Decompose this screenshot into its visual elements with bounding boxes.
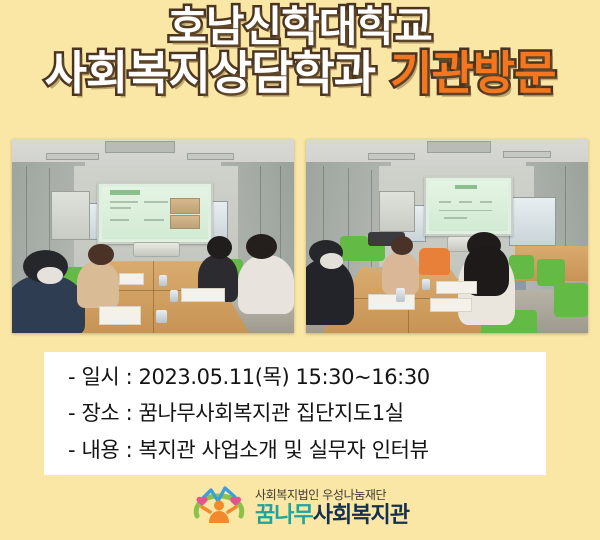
- document: [436, 281, 477, 295]
- beverage-can: [170, 290, 178, 302]
- logo-svg: [191, 486, 247, 530]
- info-line-datetime: - 일시 : 2023.05.11(목) 15:30~16:30: [68, 359, 546, 395]
- figure-arm-right: [228, 507, 236, 512]
- photo-right-scene: [306, 139, 588, 333]
- screen-content: [429, 181, 508, 231]
- person-right: [238, 255, 294, 313]
- person-mask: [320, 253, 343, 269]
- figure-body: [209, 511, 229, 523]
- window-right: [509, 197, 556, 246]
- title-visit-highlight: 기관방문: [390, 46, 555, 100]
- slide-text: [110, 207, 131, 209]
- document: [119, 273, 144, 285]
- person-left-mid: [77, 261, 119, 308]
- beverage-can: [396, 288, 404, 302]
- dreamtree-logo-mark-icon: [191, 486, 247, 530]
- ceiling-light: [187, 153, 234, 161]
- event-info-box: - 일시 : 2023.05.11(목) 15:30~16:30 - 장소 : …: [44, 352, 546, 475]
- slide-text: [110, 219, 129, 221]
- document: [181, 288, 225, 302]
- info-line-content: - 내용 : 복지관 사업소개 및 실무자 인터뷰: [68, 432, 546, 468]
- title-line-university: 호남신학대학교: [0, 6, 600, 48]
- person-head: [207, 236, 232, 259]
- poster-title: 호남신학대학교 사회복지상담학과 기관방문: [0, 6, 600, 96]
- chair: [554, 283, 588, 318]
- projection-screen: [424, 176, 513, 236]
- slide-text: [480, 201, 493, 203]
- slide-connector: [439, 210, 492, 211]
- slide-text: [144, 219, 163, 221]
- slide-text: [144, 201, 167, 203]
- logo-center-name: 꿈나무사회복지관: [255, 504, 409, 527]
- slide-image: [170, 215, 200, 230]
- organization-logo: 사회복지법인 우성나눔재단 꿈나무사회복지관: [0, 486, 600, 530]
- document: [99, 306, 140, 325]
- beverage-can: [159, 275, 167, 287]
- slide-text: [459, 201, 472, 203]
- slide-title-bar: [455, 185, 477, 190]
- whiteboard: [51, 191, 90, 240]
- logo-text-block: 사회복지법인 우성나눔재단 꿈나무사회복지관: [255, 489, 409, 527]
- whiteboard: [379, 191, 415, 232]
- person-back-left: [306, 259, 354, 325]
- info-line-location: - 장소 : 꿈나무사회복지관 집단지도1실: [68, 395, 546, 431]
- meeting-room-photo-right: [306, 139, 588, 333]
- person-head: [88, 244, 113, 265]
- document: [430, 298, 471, 312]
- table-seam: [153, 261, 154, 333]
- wall-seam: [348, 168, 349, 281]
- figure-arm-left: [202, 507, 210, 512]
- logo-foundation-name: 사회복지법인 우성나눔재단: [255, 489, 409, 502]
- ceiling-light: [46, 153, 99, 161]
- screen-content: [102, 187, 209, 239]
- slide-text: [439, 201, 452, 203]
- slide-title-bar: [110, 190, 140, 195]
- logo-name-teal: 꿈나무: [255, 503, 313, 528]
- ceiling-vent: [427, 141, 491, 153]
- ceiling-vent: [105, 141, 175, 153]
- slide-text: [110, 201, 138, 203]
- projection-screen: [97, 182, 214, 244]
- slide-text: [444, 217, 468, 219]
- title-department: 사회복지상담학과: [45, 46, 376, 100]
- poster-root: 호남신학대학교 사회복지상담학과 기관방문: [0, 0, 600, 540]
- slide-image: [170, 198, 200, 214]
- beverage-can: [156, 310, 167, 324]
- orange-bag: [419, 248, 450, 275]
- logo-name-navy: 사회복지관: [313, 503, 409, 528]
- document: [368, 294, 415, 310]
- ceiling-light: [368, 153, 415, 161]
- figure-head: [214, 501, 224, 511]
- photo-left-scene: [12, 139, 294, 333]
- photo-row: [12, 139, 588, 333]
- title-line-department-visit: 사회복지상담학과 기관방문: [0, 50, 600, 96]
- beverage-can: [422, 279, 430, 291]
- ceiling-light: [503, 151, 550, 159]
- meeting-room-photo-left: [12, 139, 294, 333]
- projector: [133, 242, 180, 258]
